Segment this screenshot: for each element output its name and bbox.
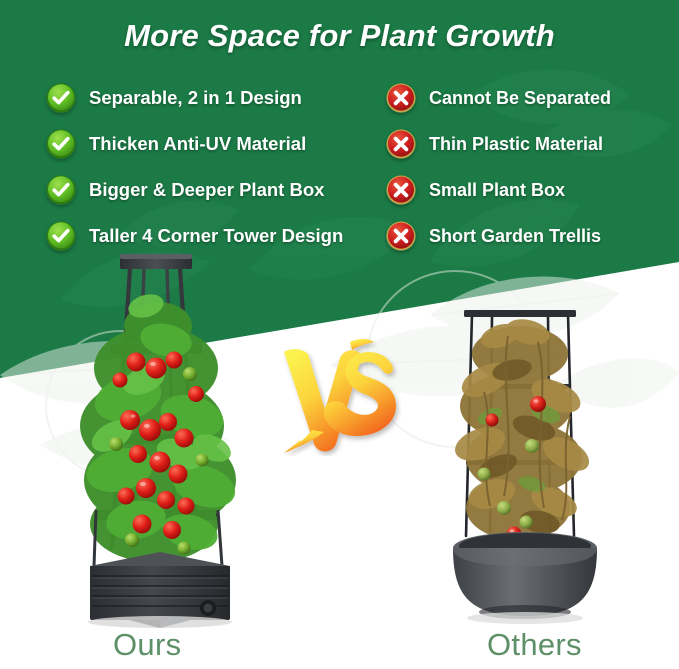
- others-product-image: [420, 296, 635, 626]
- x-circle-icon: [386, 83, 416, 113]
- planter-box: [88, 552, 232, 628]
- list-item: Short Garden Trellis: [386, 214, 676, 258]
- check-circle-icon: [46, 221, 76, 251]
- round-pot: [453, 532, 597, 624]
- page-title: More Space for Plant Growth: [0, 18, 679, 54]
- list-item: Taller 4 Corner Tower Design: [46, 214, 376, 258]
- check-circle-icon: [46, 83, 76, 113]
- x-circle-icon: [386, 221, 416, 251]
- versus-badge: [278, 336, 402, 456]
- ours-product-image: [72, 248, 302, 628]
- x-circle-icon: [386, 129, 416, 159]
- x-circle-icon: [386, 175, 416, 205]
- product-comparison-infographic: More Space for Plant Growth Separable, 2…: [0, 0, 679, 669]
- list-item-label: Separable, 2 in 1 Design: [89, 89, 302, 108]
- others-feature-list: Cannot Be Separated Thin Plastic Materia…: [386, 76, 676, 258]
- list-item: Bigger & Deeper Plant Box: [46, 168, 376, 212]
- caption-ours: Ours: [113, 627, 181, 663]
- check-circle-icon: [46, 175, 76, 205]
- list-item-label: Small Plant Box: [429, 181, 565, 199]
- list-item: Thin Plastic Material: [386, 122, 676, 166]
- list-item: Thicken Anti-UV Material: [46, 122, 376, 166]
- list-item-label: Short Garden Trellis: [429, 227, 601, 245]
- list-item-label: Thin Plastic Material: [429, 135, 603, 153]
- list-item: Cannot Be Separated: [386, 76, 676, 120]
- check-circle-icon: [46, 129, 76, 159]
- list-item: Separable, 2 in 1 Design: [46, 76, 376, 120]
- feature-comparison-lists: Separable, 2 in 1 Design Thicken Anti-UV…: [0, 76, 679, 252]
- caption-others: Others: [487, 627, 582, 663]
- ours-feature-list: Separable, 2 in 1 Design Thicken Anti-UV…: [46, 76, 376, 258]
- list-item: Small Plant Box: [386, 168, 676, 212]
- list-item-label: Cannot Be Separated: [429, 89, 611, 107]
- list-item-label: Taller 4 Corner Tower Design: [89, 227, 343, 246]
- list-item-label: Bigger & Deeper Plant Box: [89, 181, 324, 200]
- list-item-label: Thicken Anti-UV Material: [89, 135, 306, 154]
